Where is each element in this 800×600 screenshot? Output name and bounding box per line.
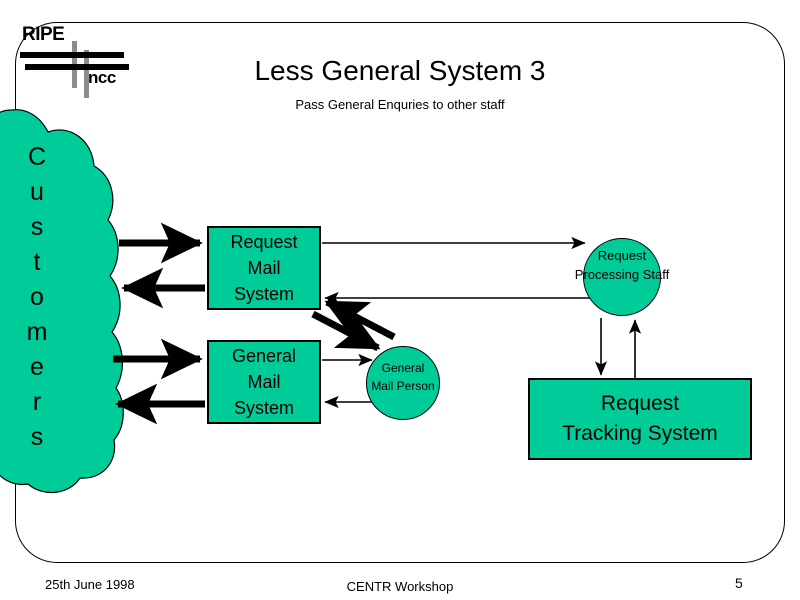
request-mail-system-box[interactable]: Request Mail System: [207, 226, 321, 310]
general-mail-system-box[interactable]: General Mail System: [207, 340, 321, 424]
request-processing-staff-circle[interactable]: [583, 238, 661, 316]
footer-event-name: CENTR Workshop: [0, 579, 800, 594]
logo-ripe-text: RIPE: [22, 24, 64, 46]
customers-cloud-label: C u s t o m e r s: [14, 140, 60, 455]
footer-page-number: 5: [735, 575, 743, 591]
request-tracking-system-box[interactable]: Request Tracking System: [528, 378, 752, 460]
slide-canvas: RIPE ncc Less General System 3 Pass Gene…: [0, 0, 800, 600]
slide-title: Less General System 3: [0, 55, 800, 87]
general-mail-person-circle[interactable]: [366, 346, 440, 420]
